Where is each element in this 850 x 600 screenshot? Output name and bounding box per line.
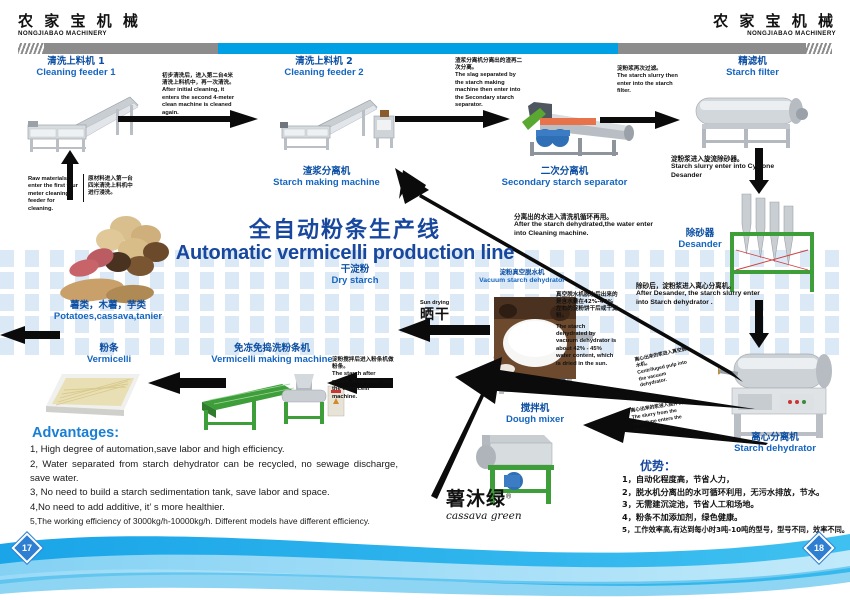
header-hatch-left [18, 43, 44, 54]
note-cn: 分离出的水进入清洗机循环再用。 [514, 213, 654, 221]
note-raw-material: Raw materials enter the first four meter… [28, 176, 80, 213]
page-badge-diamond: 17 [11, 532, 42, 563]
caption-cn: 搅拌机 [490, 403, 580, 414]
note-cn: 初步清洗后，进入第二台4米清洗上料机中，再一次清洗。 [162, 73, 238, 87]
caption-en: Cleaning feeder 1 [16, 67, 136, 78]
note-cn: 原材料进入第一台四米清洗上料机中进行浸洗。 [88, 176, 136, 197]
caption-cn: 二次分离机 [482, 166, 647, 177]
caption-vermicelli-making-machine: 免冻免捣洗粉条机 Vermicelli making machine [200, 343, 344, 365]
logo-cn-text: 农 家 宝 机 械 [18, 14, 141, 29]
caption-dough-mixer: 搅拌机 Dough mixer [490, 403, 580, 425]
caption-cn: 免冻免捣洗粉条机 [200, 343, 344, 354]
note-cn: 淀粉浆再次过滤。 [617, 66, 683, 73]
advantage-item-3: 3, No need to build a starch sedimentati… [30, 486, 398, 500]
note-slurry-to-cyclone: 淀粉浆进入旋流除砂器。 Starch slurry enter into Cyc… [671, 155, 791, 181]
note-cn: 渣浆分离机分离出的渣再二次分离。 [455, 58, 525, 72]
caption-sun-drying: Sun drying 晒干 [420, 300, 484, 323]
youshi-item-2: 2，脱水机分离出的水可循环利用，无污水排放，节水。 [622, 486, 848, 499]
caption-cn: 除砂器 [655, 228, 745, 239]
caption-vermicelli: 粉条 Vermicelli [72, 343, 146, 365]
caption-cn: 粉条 [72, 343, 146, 354]
advantage-item-5: 5,The working efficiency of 3000kg/h-100… [30, 515, 398, 527]
note-en: After initial cleaning, it enters the se… [162, 87, 238, 117]
arrow-vacuum-to-sundrying [0, 326, 60, 344]
logo-cn-text-right: 农 家 宝 机 械 [713, 14, 836, 29]
advantages-list: 1, High degree of automation,save labor … [30, 443, 398, 528]
youshi-item-3: 3，无需建沉淀池，节省人工和场地。 [622, 498, 848, 511]
note-en: After Desander, the starch slurry enter … [636, 290, 764, 307]
note-cn: 真空脱水机脱水后出来的是含水量在42%-45%左右的淀粉饼干后或干淀粉。 [556, 292, 618, 321]
note-water-recycle: 分离出的水进入清洗机循环再用。 After the starch dehydra… [514, 213, 654, 239]
logo-en-text-right: NONGJIABAO MACHINERY [713, 29, 836, 38]
advantages-heading: Advantages: [32, 425, 119, 441]
page-number-right: 18 [808, 537, 834, 563]
caption-en: Desander [655, 239, 745, 250]
caption-starch-dehydrator: 离心分离机 Starch dehydrator [712, 432, 838, 454]
note-cn: 淀粉浆进入旋流除砂器。 [671, 155, 791, 163]
note-cn: 除砂后，淀粉浆进入离心分离机。 [636, 282, 764, 290]
caption-en: Cleaning feeder 2 [264, 67, 384, 78]
header-bar-grey-left [18, 43, 218, 54]
header-hatch-right [806, 43, 832, 54]
caption-cn: 淀粉真空脱水机 [452, 269, 592, 277]
caption-en: Starch making machine [254, 177, 399, 188]
advantage-item-4: 4,No need to add additive, it’ s more he… [30, 501, 398, 515]
advantage-item-1: 1, High degree of automation,save labor … [30, 443, 398, 457]
caption-en: Dough mixer [490, 414, 580, 425]
note-after-initial-cleaning: 初步清洗后，进入第二台4米清洗上料机中，再一次清洗。 After initial… [162, 73, 238, 117]
note-en: Starch slurry enter into Cyclone Desande… [671, 163, 791, 180]
page-number-right-text: 18 [814, 543, 824, 553]
caption-en: Starch dehydrator [712, 443, 838, 454]
header-bar-blue [218, 43, 618, 54]
machine-cleaning-feeder-2 [278, 96, 398, 154]
youshi-item-4: 4，粉条不加添加剂，绿色健康。 [622, 511, 848, 524]
caption-en: Starch filter [700, 67, 805, 78]
caption-vacuum-dehydrator: 淀粉真空脱水机 Vacuum starch dehydrator [452, 269, 592, 285]
caption-starch-filter: 精滤机 Starch filter [700, 56, 805, 78]
caption-desander: 除砂器 Desander [655, 228, 745, 250]
note-cn: 淀粉搅拌后进入粉条机做粉条。 [332, 357, 394, 371]
caption-en: Secondary starch separator [482, 177, 647, 188]
brand-cn: 薯沐绿 [446, 488, 506, 510]
note-en: After the starch dehydrated,the water en… [514, 221, 654, 238]
page-badge-diamond: 18 [803, 532, 834, 563]
note-en: The starch after mixed, then enter into … [332, 371, 394, 401]
note-en: The starch dehydrated by vacuum dehydrat… [556, 324, 618, 368]
caption-cleaning-feeder-2: 清洗上料机 2 Cleaning feeder 2 [264, 56, 384, 78]
caption-en: Vermicelli [72, 354, 146, 365]
caption-cn: 晒干 [420, 307, 484, 324]
caption-cn: 离心分离机 [712, 432, 838, 443]
caption-en: Vacuum starch dehydrator [452, 277, 592, 285]
youshi-item-1: 1，自动化程度高，节省人力， [622, 473, 848, 486]
caption-cn: 精滤机 [700, 56, 805, 67]
caption-cn: 薯类，木薯，芋类 [28, 300, 188, 311]
header-bar-grey-right [618, 43, 832, 54]
brand-en: cassava green [446, 510, 522, 522]
advantage-item-2: 2, Water separated from starch dehydrato… [30, 458, 398, 486]
page-number-left-text: 17 [22, 543, 32, 553]
note-slurry-to-filter: 淀粉浆再次过滤。 The starch slurry then enter in… [617, 66, 683, 95]
caption-starch-making-machine: 渣浆分离机 Starch making machine [254, 166, 399, 188]
note-vacuum-dehydrated: 真空脱水机脱水后出来的是含水量在42%-45%左右的淀粉饼干后或干淀粉。 The… [556, 292, 618, 368]
youshi-list: 1，自动化程度高，节省人力， 2，脱水机分离出的水可循环利用，无污水排放，节水。… [622, 473, 848, 535]
caption-raw-materials: 薯类，木薯，芋类 Potatoes,cassava,tanier [28, 300, 188, 322]
brochure-page: 农 家 宝 机 械 NONGJIABAO MACHINERY 农 家 宝 机 械… [0, 0, 850, 600]
caption-dry-starch: 干淀粉 Dry starch [310, 264, 400, 286]
note-slag-to-secondary: 渣浆分离机分离出的渣再二次分离。 The slag separated by t… [455, 58, 525, 109]
caption-en: Dry starch [310, 275, 400, 286]
caption-en: Sun drying [420, 300, 484, 307]
caption-cn: 渣浆分离机 [254, 166, 399, 177]
caption-en: Potatoes,cassava,tanier [28, 311, 188, 322]
arrow-machine-to-vermicelli [148, 372, 226, 394]
logo-en-text: NONGJIABAO MACHINERY [18, 29, 141, 38]
page-number-left: 17 [16, 537, 42, 563]
note-starch-after-mixed: 淀粉搅拌后进入粉条机做粉条。 The starch after mixed, t… [332, 357, 394, 401]
arrow-separator-to-filter [600, 110, 680, 130]
arrow-feeder2-to-separator [395, 108, 510, 130]
youshi-item-5: 5，工作效率高,有达到每小时3吨-10吨的型号，型号不同，效率不同。 [622, 524, 848, 535]
page-title-cn: 全自动粉条生产线 [175, 212, 515, 244]
machine-starch-filter [686, 88, 816, 150]
caption-cn: 清洗上料机 2 [264, 56, 384, 67]
caption-cn: 干淀粉 [310, 264, 400, 275]
caption-secondary-separator: 二次分离机 Secondary starch separator [482, 166, 647, 188]
brand-cn-line: 薯沐绿® [446, 484, 522, 511]
youshi-heading: 优势： [640, 457, 676, 474]
page-title-en: Automatic vermicelli production line [150, 242, 540, 265]
note-after-desander: 除砂后，淀粉浆进入离心分离机。 After Desander, the star… [636, 282, 764, 308]
note-raw-material-cn: 原材料进入第一台四米清洗上料机中进行浸洗。 [88, 176, 136, 197]
note-en: The starch slurry then enter into the st… [617, 73, 683, 95]
caption-en: Vermicelli making machine [200, 354, 344, 365]
note-divider-line [83, 174, 84, 202]
logo-right: 农 家 宝 机 械 NONGJIABAO MACHINERY [713, 14, 836, 38]
note-en: The slag separated by the starch making … [455, 72, 525, 109]
brand-mark: 薯沐绿® cassava green [446, 484, 522, 522]
caption-cn: 清洗上料机 1 [16, 56, 136, 67]
logo-left: 农 家 宝 机 械 NONGJIABAO MACHINERY [18, 14, 141, 38]
caption-cleaning-feeder-1: 清洗上料机 1 Cleaning feeder 1 [16, 56, 136, 78]
registered-icon: ® [506, 494, 511, 501]
note-en: Raw materials enter the first four meter… [28, 176, 80, 213]
photo-vermicelli [38, 362, 148, 429]
